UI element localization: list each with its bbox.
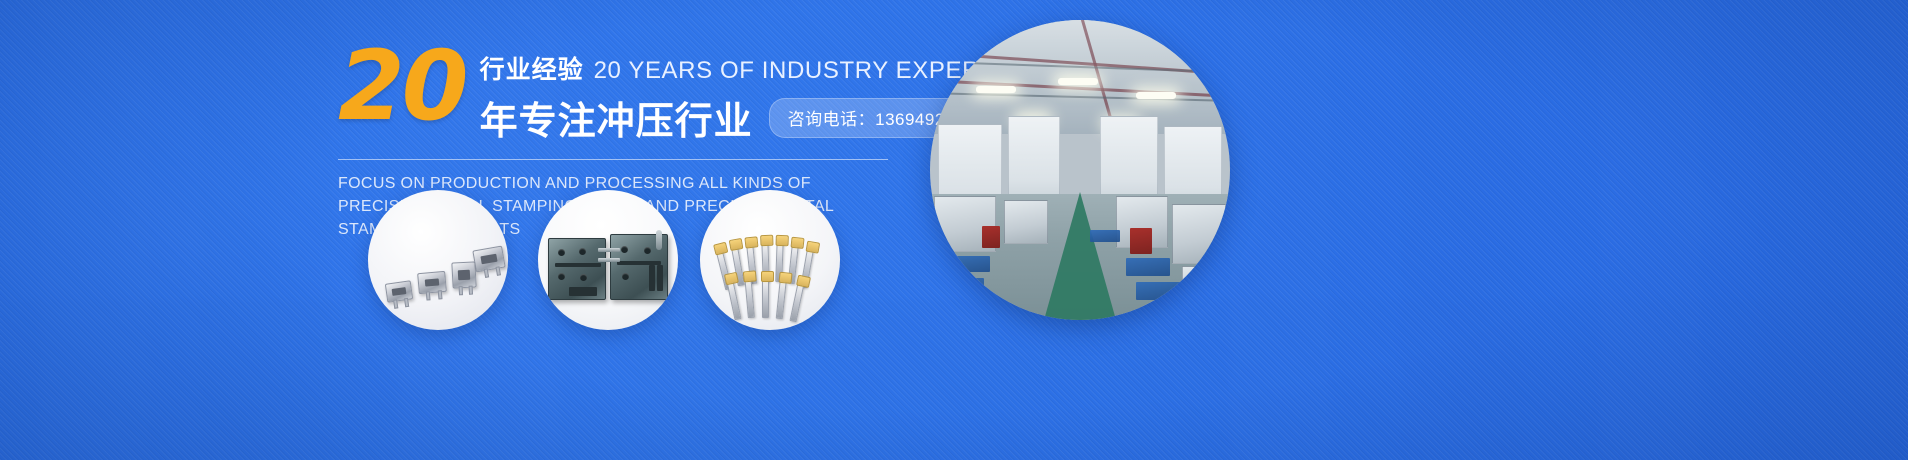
headline-row: 20 行业经验 20 YEARS OF INDUSTRY EXPERIENCE … [338,40,938,145]
product-circle-molds [538,190,678,330]
factory-green-aisle [1044,192,1116,320]
terminal-pin [762,274,769,318]
product-circle-terminals [700,190,840,330]
years-number: 20 [338,42,466,130]
headline-cn-main: 年专注冲压行业 [480,90,753,145]
factory-blue-crate [1126,258,1170,276]
factory-blue-crate [950,256,990,272]
factory-red-machine [982,226,1000,248]
factory-machine [1172,204,1226,264]
ceiling-lamp [1136,92,1176,99]
factory-machine [1182,266,1226,306]
connector-part [385,280,413,302]
factory-machine [1004,200,1048,244]
divider-line [338,159,888,160]
connector-part [417,271,447,294]
factory-red-machine [1130,228,1152,254]
ceiling-lamp [1058,78,1098,85]
mold-pin [598,248,620,252]
factory-photo-circle [930,20,1230,320]
product-circle-connectors [368,190,508,330]
factory-blue-crate [1090,230,1120,242]
factory-blue-crate [1136,282,1184,300]
headline-cn-label: 行业经验 [480,50,584,86]
ceiling-lamp [976,86,1016,93]
connector-part [451,261,476,288]
factory-ceiling [930,20,1230,134]
mold-pin [656,230,662,250]
promo-banner: 20 行业经验 20 YEARS OF INDUSTRY EXPERIENCE … [0,0,1908,460]
mold-pin [598,258,620,262]
factory-blue-crate [938,278,984,296]
